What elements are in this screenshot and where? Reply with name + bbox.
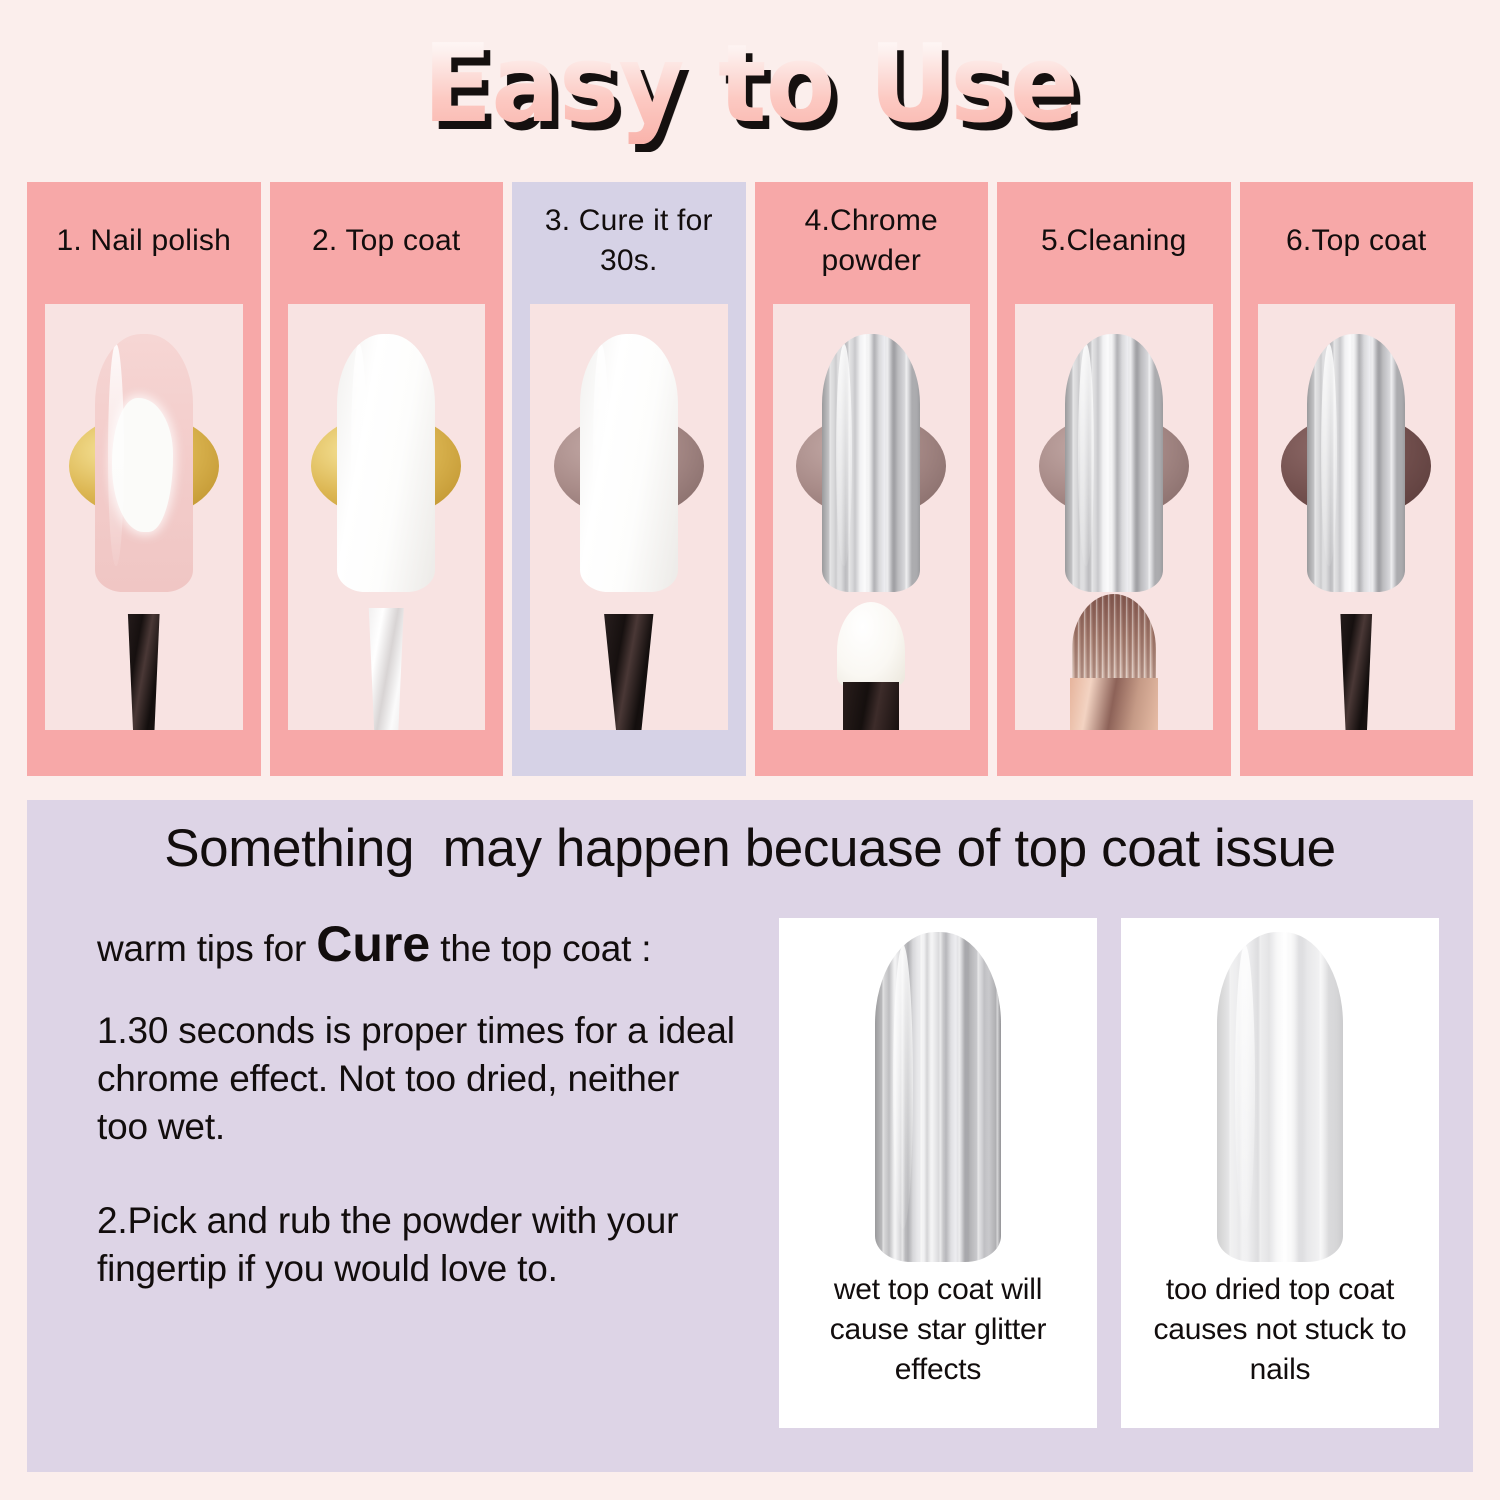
chrome-streaks — [1065, 334, 1163, 592]
pink-clear-nail-with-white-polish — [95, 334, 193, 592]
chrome-silver-nail — [1065, 334, 1163, 592]
sample-dried-caption: too dried top coat causes not stuck to n… — [1121, 1266, 1439, 1390]
chrome-streaks — [1307, 334, 1405, 592]
warm-tips-lead-after: the top coat : — [430, 928, 651, 969]
chrome-streaks — [822, 334, 920, 592]
sponge-tip — [837, 602, 905, 690]
chrome-streaks — [875, 932, 1001, 1262]
pearl-streaks — [1217, 932, 1343, 1262]
step-card-4: 4.Chrome powder — [755, 182, 989, 776]
white-glossy-nail — [337, 334, 435, 592]
black-polish-brush-icon — [1334, 614, 1378, 730]
sample-dried-top-coat: too dried top coat causes not stuck to n… — [1121, 918, 1439, 1428]
step-3-title: 3. Cure it for 30s. — [512, 182, 746, 300]
warm-tips-lead: warm tips for Cure the top coat : — [97, 920, 737, 973]
step-1-title: 1. Nail polish — [27, 182, 261, 300]
step-6-title: 6.Top coat — [1240, 182, 1474, 300]
step-4-title: 4.Chrome powder — [755, 182, 989, 300]
sample-dried-art — [1121, 918, 1439, 1266]
steps-strip: 1. Nail polish 2. Top coat 3. Cure it fo… — [27, 182, 1473, 776]
step-2-title: 2. Top coat — [270, 182, 504, 300]
white-top-coat-brush-icon — [363, 608, 409, 730]
warm-tip-item-2: 2.Pick and rub the powder with your fing… — [97, 1197, 737, 1293]
wet-top-coat-chrome-nail — [875, 932, 1001, 1262]
black-polish-brush-icon — [122, 614, 166, 730]
step-5-title: 5.Cleaning — [997, 182, 1231, 300]
sample-wet-caption: wet top coat will cause star glitter eff… — [779, 1266, 1097, 1390]
sample-wet-top-coat: wet top coat will cause star glitter eff… — [779, 918, 1097, 1428]
step-card-1: 1. Nail polish — [27, 182, 261, 776]
step-6-photo — [1258, 304, 1456, 730]
step-card-2: 2. Top coat — [270, 182, 504, 776]
brush-bristles — [1072, 594, 1156, 686]
brush-ferrule — [1070, 678, 1158, 730]
sample-panels: wet top coat will cause star glitter eff… — [779, 918, 1439, 1428]
warm-tips-emphasis: Cure — [316, 916, 430, 972]
rose-gold-makeup-brush-icon — [1068, 594, 1160, 730]
lower-panel-heading: Something may happen becuase of top coat… — [27, 818, 1473, 880]
step-4-photo — [773, 304, 971, 730]
white-polish-smear — [112, 398, 173, 532]
step-2-photo — [288, 304, 486, 730]
black-polish-brush-icon — [601, 614, 657, 730]
step-card-6: 6.Top coat — [1240, 182, 1474, 776]
step-card-5: 5.Cleaning — [997, 182, 1231, 776]
white-sponge-applicator-icon — [835, 602, 907, 730]
step-card-3: 3. Cure it for 30s. — [512, 182, 746, 776]
warm-tips-block: warm tips for Cure the top coat : 1.30 s… — [97, 920, 737, 1293]
top-coat-issue-panel: Something may happen becuase of top coat… — [27, 800, 1473, 1472]
step-3-photo — [530, 304, 728, 730]
step-5-photo — [1015, 304, 1213, 730]
page-header: Easy to Use — [0, 26, 1500, 146]
warm-tip-item-1: 1.30 seconds is proper times for a ideal… — [97, 1007, 737, 1151]
chrome-silver-nail — [822, 334, 920, 592]
warm-tips-lead-before: warm tips for — [97, 928, 316, 969]
chrome-silver-nail — [1307, 334, 1405, 592]
page-title: Easy to Use — [423, 26, 1078, 144]
too-dried-top-coat-pearl-nail — [1217, 932, 1343, 1262]
white-glossy-nail — [580, 334, 678, 592]
sample-wet-art — [779, 918, 1097, 1266]
step-1-photo — [45, 304, 243, 730]
sponge-handle — [843, 682, 899, 730]
